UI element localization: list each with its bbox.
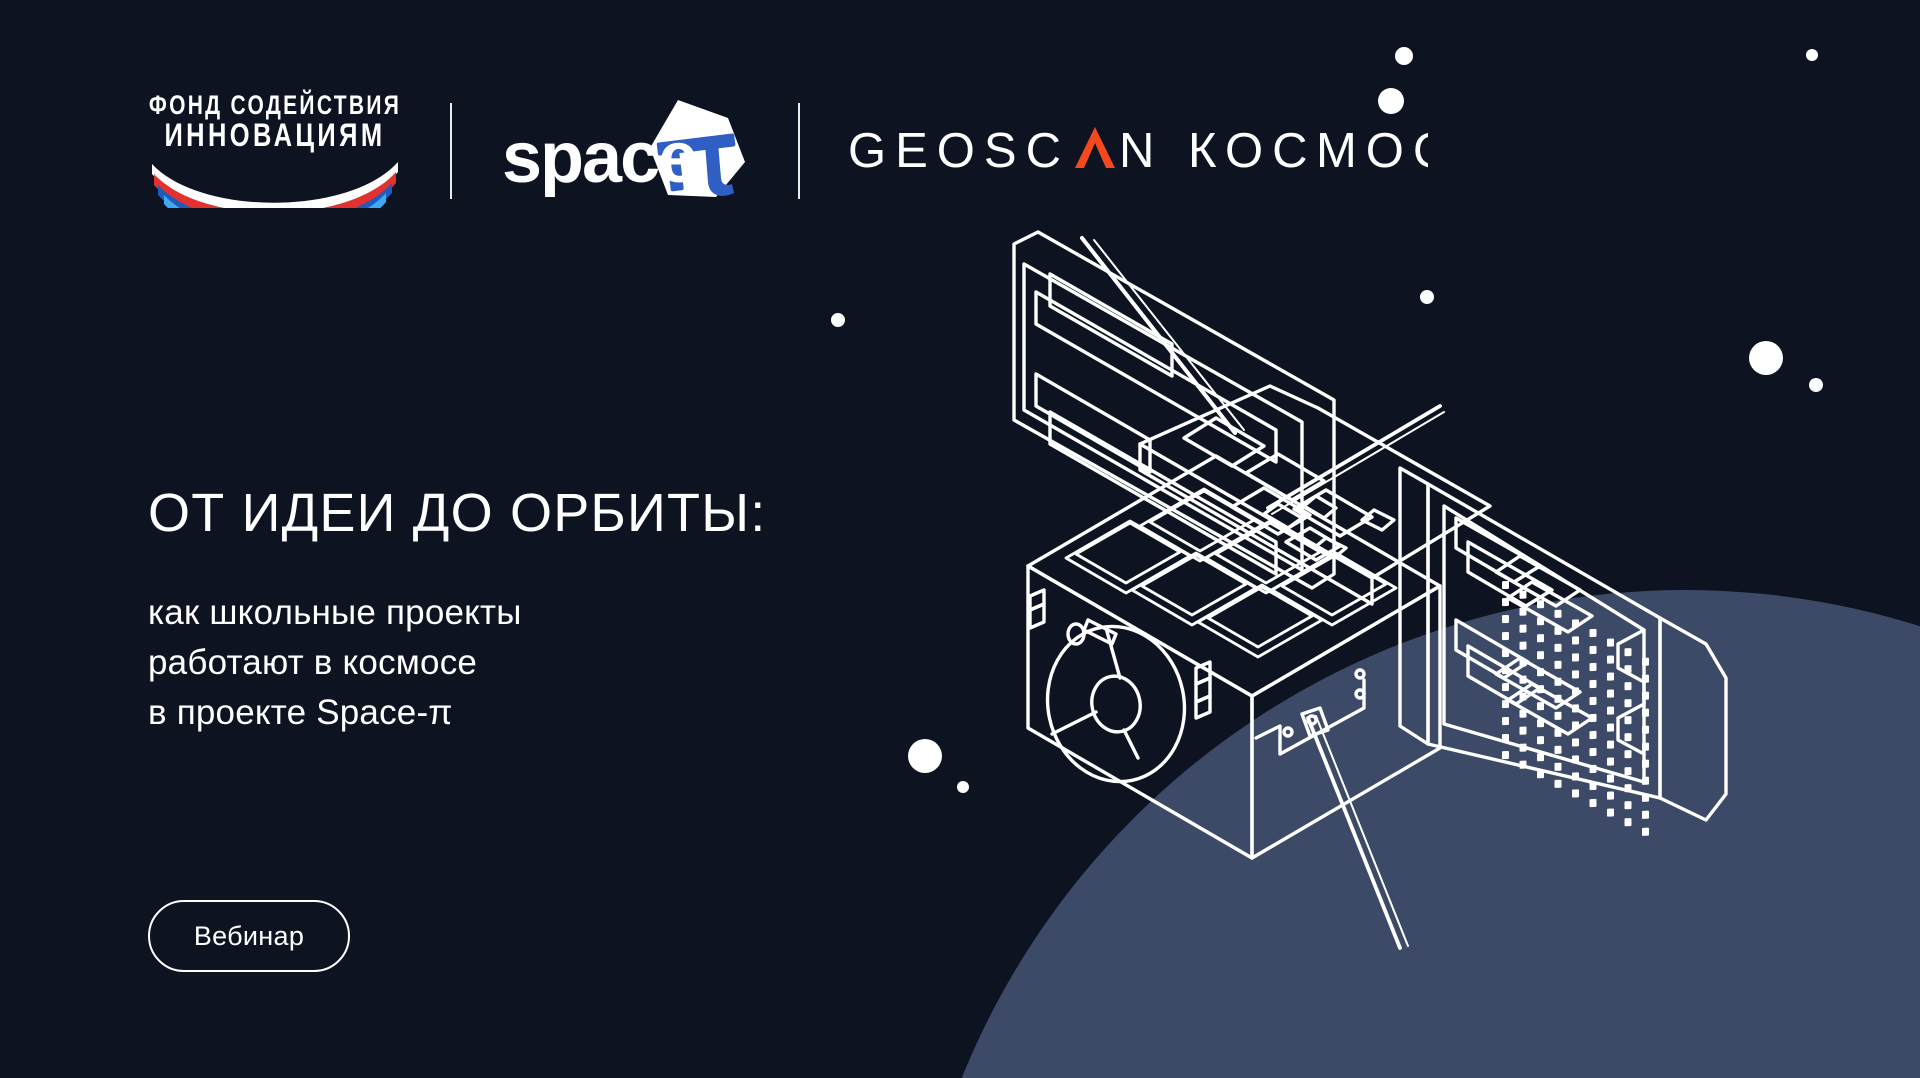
solar-cell-dot — [1502, 666, 1509, 674]
solar-cell-dot — [1607, 774, 1614, 782]
solar-cell-dot — [1572, 670, 1579, 678]
solar-cell-dot — [1520, 761, 1527, 769]
solar-cell-dot — [1625, 801, 1632, 809]
solar-cell-dot — [1537, 753, 1544, 761]
solar-cell-dot — [1502, 751, 1509, 759]
star-4 — [1809, 378, 1823, 392]
solar-cell-dot — [1642, 709, 1649, 717]
solar-cell-dot — [1625, 750, 1632, 758]
solar-cell-dot — [1607, 706, 1614, 714]
russian-flag-swoosh-icon — [150, 158, 400, 208]
solar-cell-dot — [1520, 625, 1527, 633]
solar-cell-dot — [1555, 763, 1562, 771]
solar-panel-dot-matrix — [1502, 581, 1649, 836]
solar-cell-dot — [1520, 727, 1527, 735]
subtitle-line-2: работают в космосе — [148, 638, 522, 688]
solar-cell-dot — [1555, 661, 1562, 669]
solar-cell-dot — [1520, 676, 1527, 684]
solar-cell-dot — [1642, 777, 1649, 785]
geoscan-kosmos-logo: GEOSC N КОСМОС — [848, 115, 1428, 187]
mounting-tabs — [1314, 510, 1394, 558]
solar-cell-dot — [1625, 699, 1632, 707]
solar-panel-upper-left — [1014, 232, 1334, 588]
solar-cell-dot — [1520, 608, 1527, 616]
solar-cell-dot — [1502, 615, 1509, 623]
solar-cell-dot — [1572, 738, 1579, 746]
triangle-a-icon — [1075, 127, 1115, 168]
solar-cell-dot — [1590, 748, 1597, 756]
space-pi-logo: space — [502, 96, 752, 206]
banner-root: ФОНД СОДЕЙСТВИЯ ИННОВАЦИЯМ — [0, 0, 1920, 1078]
fasie-line-2: ИННОВАЦИЯМ — [164, 119, 385, 152]
solar-cell-dot — [1642, 760, 1649, 768]
solar-cell-dot — [1607, 723, 1614, 731]
solar-cell-dot — [1642, 794, 1649, 802]
solar-cell-dot — [1537, 719, 1544, 727]
solar-cell-dot — [1502, 683, 1509, 691]
solar-cell-dot — [1502, 700, 1509, 708]
space-wordmark: space — [502, 118, 696, 198]
solar-cell-dot — [1520, 710, 1527, 718]
solar-cell-dot — [1625, 733, 1632, 741]
solar-cell-dot — [1502, 649, 1509, 657]
solar-cell-dot — [1590, 765, 1597, 773]
planet-arc — [905, 590, 1920, 1078]
solar-cell-dot — [1555, 746, 1562, 754]
solar-cell-dot — [1555, 712, 1562, 720]
solar-cell-dot — [1520, 744, 1527, 752]
solar-cell-dot — [1520, 659, 1527, 667]
logo-bar: ФОНД СОДЕЙСТВИЯ ИННОВАЦИЯМ — [150, 96, 1428, 206]
solar-cell-dot — [1502, 734, 1509, 742]
upper-plate-cells — [1184, 418, 1372, 560]
solar-cell-dot — [1607, 808, 1614, 816]
satellite-body — [1028, 456, 1440, 858]
solar-cell-dot — [1625, 784, 1632, 792]
solar-cell-dot — [1572, 704, 1579, 712]
solar-cell-dot — [1642, 658, 1649, 666]
star-0 — [1395, 47, 1413, 65]
solar-cell-dot — [1572, 653, 1579, 661]
solar-cell-dot — [1537, 600, 1544, 608]
antenna-boom-upper — [1082, 238, 1244, 433]
geoscan-text-part1: GEOSC — [848, 124, 1070, 178]
star-7 — [908, 739, 942, 773]
solar-cell-dot — [1520, 591, 1527, 599]
solar-cell-dot — [1590, 629, 1597, 637]
solar-cell-dot — [1590, 697, 1597, 705]
solar-cell-dot — [1607, 740, 1614, 748]
solar-cell-dot — [1572, 636, 1579, 644]
star-8 — [957, 781, 969, 793]
solar-cell-dot — [1555, 695, 1562, 703]
solar-cell-dot — [1502, 581, 1509, 589]
solar-cell-dot — [1642, 811, 1649, 819]
solar-cell-dot — [1572, 755, 1579, 763]
solar-cell-dot — [1642, 692, 1649, 700]
solar-cell-dot — [1520, 642, 1527, 650]
solar-cell-dot — [1520, 693, 1527, 701]
solar-cell-dot — [1555, 627, 1562, 635]
solar-cell-dot — [1555, 610, 1562, 618]
satellite-top-deck — [1140, 386, 1490, 604]
vertical-divider-icon-2 — [798, 103, 800, 199]
solar-cell-dot — [1642, 743, 1649, 751]
solar-cell-dot — [1555, 729, 1562, 737]
solar-cell-dot — [1537, 668, 1544, 676]
body-right-rail — [1256, 670, 1364, 754]
solar-cell-dot — [1537, 736, 1544, 744]
solar-cell-dot — [1590, 799, 1597, 807]
solar-cell-dot — [1537, 651, 1544, 659]
solar-cell-dot — [1590, 731, 1597, 739]
antenna-boom-lower — [1302, 708, 1408, 948]
solar-cell-dot — [1607, 689, 1614, 697]
solar-cell-dot — [1625, 716, 1632, 724]
solar-cell-dot — [1590, 680, 1597, 688]
fasie-line-1: ФОНД СОДЕЙСТВИЯ — [149, 91, 401, 120]
solar-cell-dot — [1572, 789, 1579, 797]
solar-cell-dot — [1572, 687, 1579, 695]
solar-cell-dot — [1642, 726, 1649, 734]
solar-cell-dot — [1572, 619, 1579, 627]
solar-cell-dot — [1642, 675, 1649, 683]
solar-cell-dot — [1642, 828, 1649, 836]
solar-cell-dot — [1537, 634, 1544, 642]
star-6 — [831, 313, 845, 327]
solar-cell-dot — [1572, 772, 1579, 780]
page-subtitle: как школьные проекты работают в космосе … — [148, 588, 522, 738]
subtitle-line-1: как школьные проекты — [148, 588, 522, 638]
solar-cell-dot — [1607, 655, 1614, 663]
solar-cell-dot — [1555, 780, 1562, 788]
geoscan-text-part2: N — [1119, 124, 1163, 178]
kosmos-text: КОСМОС — [1188, 124, 1428, 178]
subtitle-line-3: в проекте Space-π — [148, 688, 522, 738]
solar-cell-dot — [1607, 757, 1614, 765]
solar-cell-dot — [1537, 685, 1544, 693]
star-3 — [1749, 341, 1783, 375]
solar-cell-dot — [1502, 632, 1509, 640]
fasie-logo: ФОНД СОДЕЙСТВИЯ ИННОВАЦИЯМ — [150, 94, 400, 208]
solar-cell-dot — [1590, 782, 1597, 790]
solar-cell-dot — [1607, 638, 1614, 646]
solar-cell-dot — [1590, 646, 1597, 654]
solar-cell-dot — [1590, 663, 1597, 671]
page-title: ОТ ИДЕИ ДО ОРБИТЫ: — [148, 483, 766, 543]
solar-panel-right — [1400, 468, 1726, 820]
vertical-divider-icon — [450, 103, 452, 199]
solar-cell-dot — [1537, 702, 1544, 710]
solar-cell-dot — [1537, 770, 1544, 778]
solar-cell-dot — [1625, 665, 1632, 673]
solar-cell-dot — [1625, 767, 1632, 775]
star-2 — [1806, 49, 1818, 61]
solar-cell-dot — [1625, 682, 1632, 690]
solar-cell-dot — [1502, 717, 1509, 725]
solar-cell-dot — [1555, 678, 1562, 686]
webinar-button[interactable]: Вебинар — [148, 900, 350, 972]
solar-cell-dot — [1555, 644, 1562, 652]
solar-cell-dot — [1572, 721, 1579, 729]
solar-cell-dot — [1625, 818, 1632, 826]
solar-cell-dot — [1537, 617, 1544, 625]
solar-cell-dot — [1607, 791, 1614, 799]
solar-cell-dot — [1607, 672, 1614, 680]
star-5 — [1420, 290, 1434, 304]
body-top-solar-cells — [1066, 489, 1396, 657]
body-front-details — [1030, 590, 1199, 794]
body-left-rail — [1196, 662, 1210, 718]
antenna-boom-right — [1264, 406, 1444, 528]
solar-cell-dot — [1502, 598, 1509, 606]
solar-cell-dot — [1625, 648, 1632, 656]
solar-cell-dot — [1590, 714, 1597, 722]
